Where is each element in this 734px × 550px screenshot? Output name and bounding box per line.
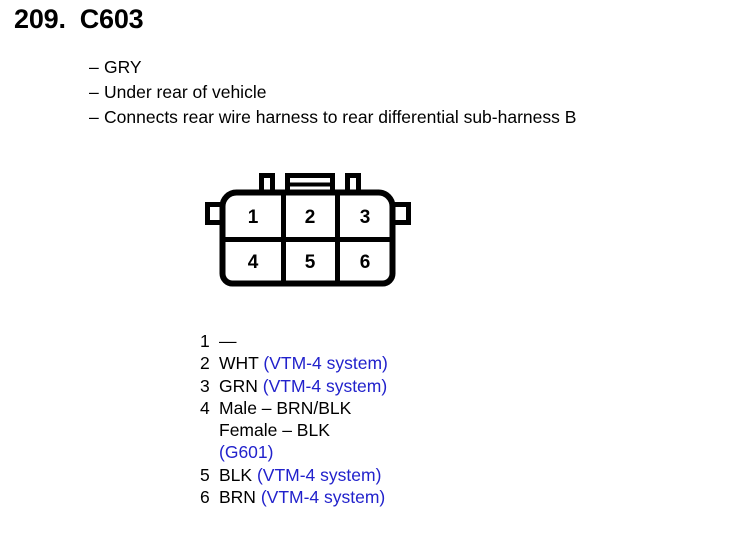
page-title: 209.C603 (14, 4, 144, 35)
pin-value-line: WHT (VTM-4 system) (219, 352, 600, 374)
pin-value: — (219, 330, 600, 352)
pin-wire-color: — (219, 331, 237, 351)
pin-system-note: (G601) (219, 442, 273, 462)
pin-number: 6 (200, 486, 219, 508)
connector-cell-6: 6 (360, 252, 371, 273)
pin-number: 5 (200, 464, 219, 486)
pin-value-line: BLK (VTM-4 system) (219, 464, 600, 486)
pin-value: WHT (VTM-4 system) (219, 352, 600, 374)
pin-value-line: Male – BRN/BLK (219, 397, 600, 419)
pin-wire-color: GRN (219, 376, 263, 396)
pin-row: 6BRN (VTM-4 system) (200, 486, 600, 508)
pin-wire-color: BRN (219, 487, 261, 507)
pin-value: Male – BRN/BLKFemale – BLK(G601) (219, 397, 600, 464)
pin-value-line: — (219, 330, 600, 352)
pin-system-note: (VTM-4 system) (263, 353, 387, 373)
description-dash: – (89, 80, 104, 105)
pin-value: GRN (VTM-4 system) (219, 375, 600, 397)
pin-row: 2WHT (VTM-4 system) (200, 352, 600, 374)
connector-cell-1: 1 (248, 207, 259, 228)
connector-diagram: 1 2 3 4 5 6 (200, 165, 415, 300)
description-item: –Under rear of vehicle (89, 80, 729, 105)
connector-cell-3: 3 (360, 207, 371, 228)
connector-cell-5: 5 (305, 252, 316, 273)
pin-value: BRN (VTM-4 system) (219, 486, 600, 508)
connector-cell-2: 2 (305, 207, 316, 228)
description-item: –Connects rear wire harness to rear diff… (89, 105, 729, 130)
pin-wire-color: WHT (219, 353, 263, 373)
pin-list: 1—2WHT (VTM-4 system)3GRN (VTM-4 system)… (200, 330, 600, 508)
pin-value-line: Female – BLK (219, 419, 600, 441)
connector-svg: 1 2 3 4 5 6 (200, 165, 415, 300)
pin-row: 3GRN (VTM-4 system) (200, 375, 600, 397)
pin-number: 3 (200, 375, 219, 397)
description-item-label: GRY (104, 55, 142, 80)
pin-number: 4 (200, 397, 219, 419)
description-item: –GRY (89, 55, 729, 80)
pin-system-note: (VTM-4 system) (257, 465, 381, 485)
description-dash: – (89, 105, 104, 130)
description-list: –GRY–Under rear of vehicle–Connects rear… (89, 55, 729, 130)
page-title-code: C603 (80, 4, 144, 34)
pin-number: 2 (200, 352, 219, 374)
pin-value-line: BRN (VTM-4 system) (219, 486, 600, 508)
description-item-label: Connects rear wire harness to rear diffe… (104, 105, 576, 130)
pin-row: 1— (200, 330, 600, 352)
pin-row: 5BLK (VTM-4 system) (200, 464, 600, 486)
page-title-number: 209. (14, 4, 66, 34)
pin-wire-color: BLK (219, 465, 257, 485)
pin-row: 4Male – BRN/BLKFemale – BLK(G601) (200, 397, 600, 464)
pin-wire-color: Male – BRN/BLK (219, 398, 351, 418)
description-item-label: Under rear of vehicle (104, 80, 266, 105)
pin-wire-color: Female – BLK (219, 420, 330, 440)
pin-value: BLK (VTM-4 system) (219, 464, 600, 486)
pin-system-note: (VTM-4 system) (263, 376, 387, 396)
connector-cell-4: 4 (248, 252, 259, 273)
description-dash: – (89, 55, 104, 80)
pin-value-line: (G601) (219, 441, 600, 463)
pin-number: 1 (200, 330, 219, 352)
pin-system-note: (VTM-4 system) (261, 487, 385, 507)
pin-value-line: GRN (VTM-4 system) (219, 375, 600, 397)
